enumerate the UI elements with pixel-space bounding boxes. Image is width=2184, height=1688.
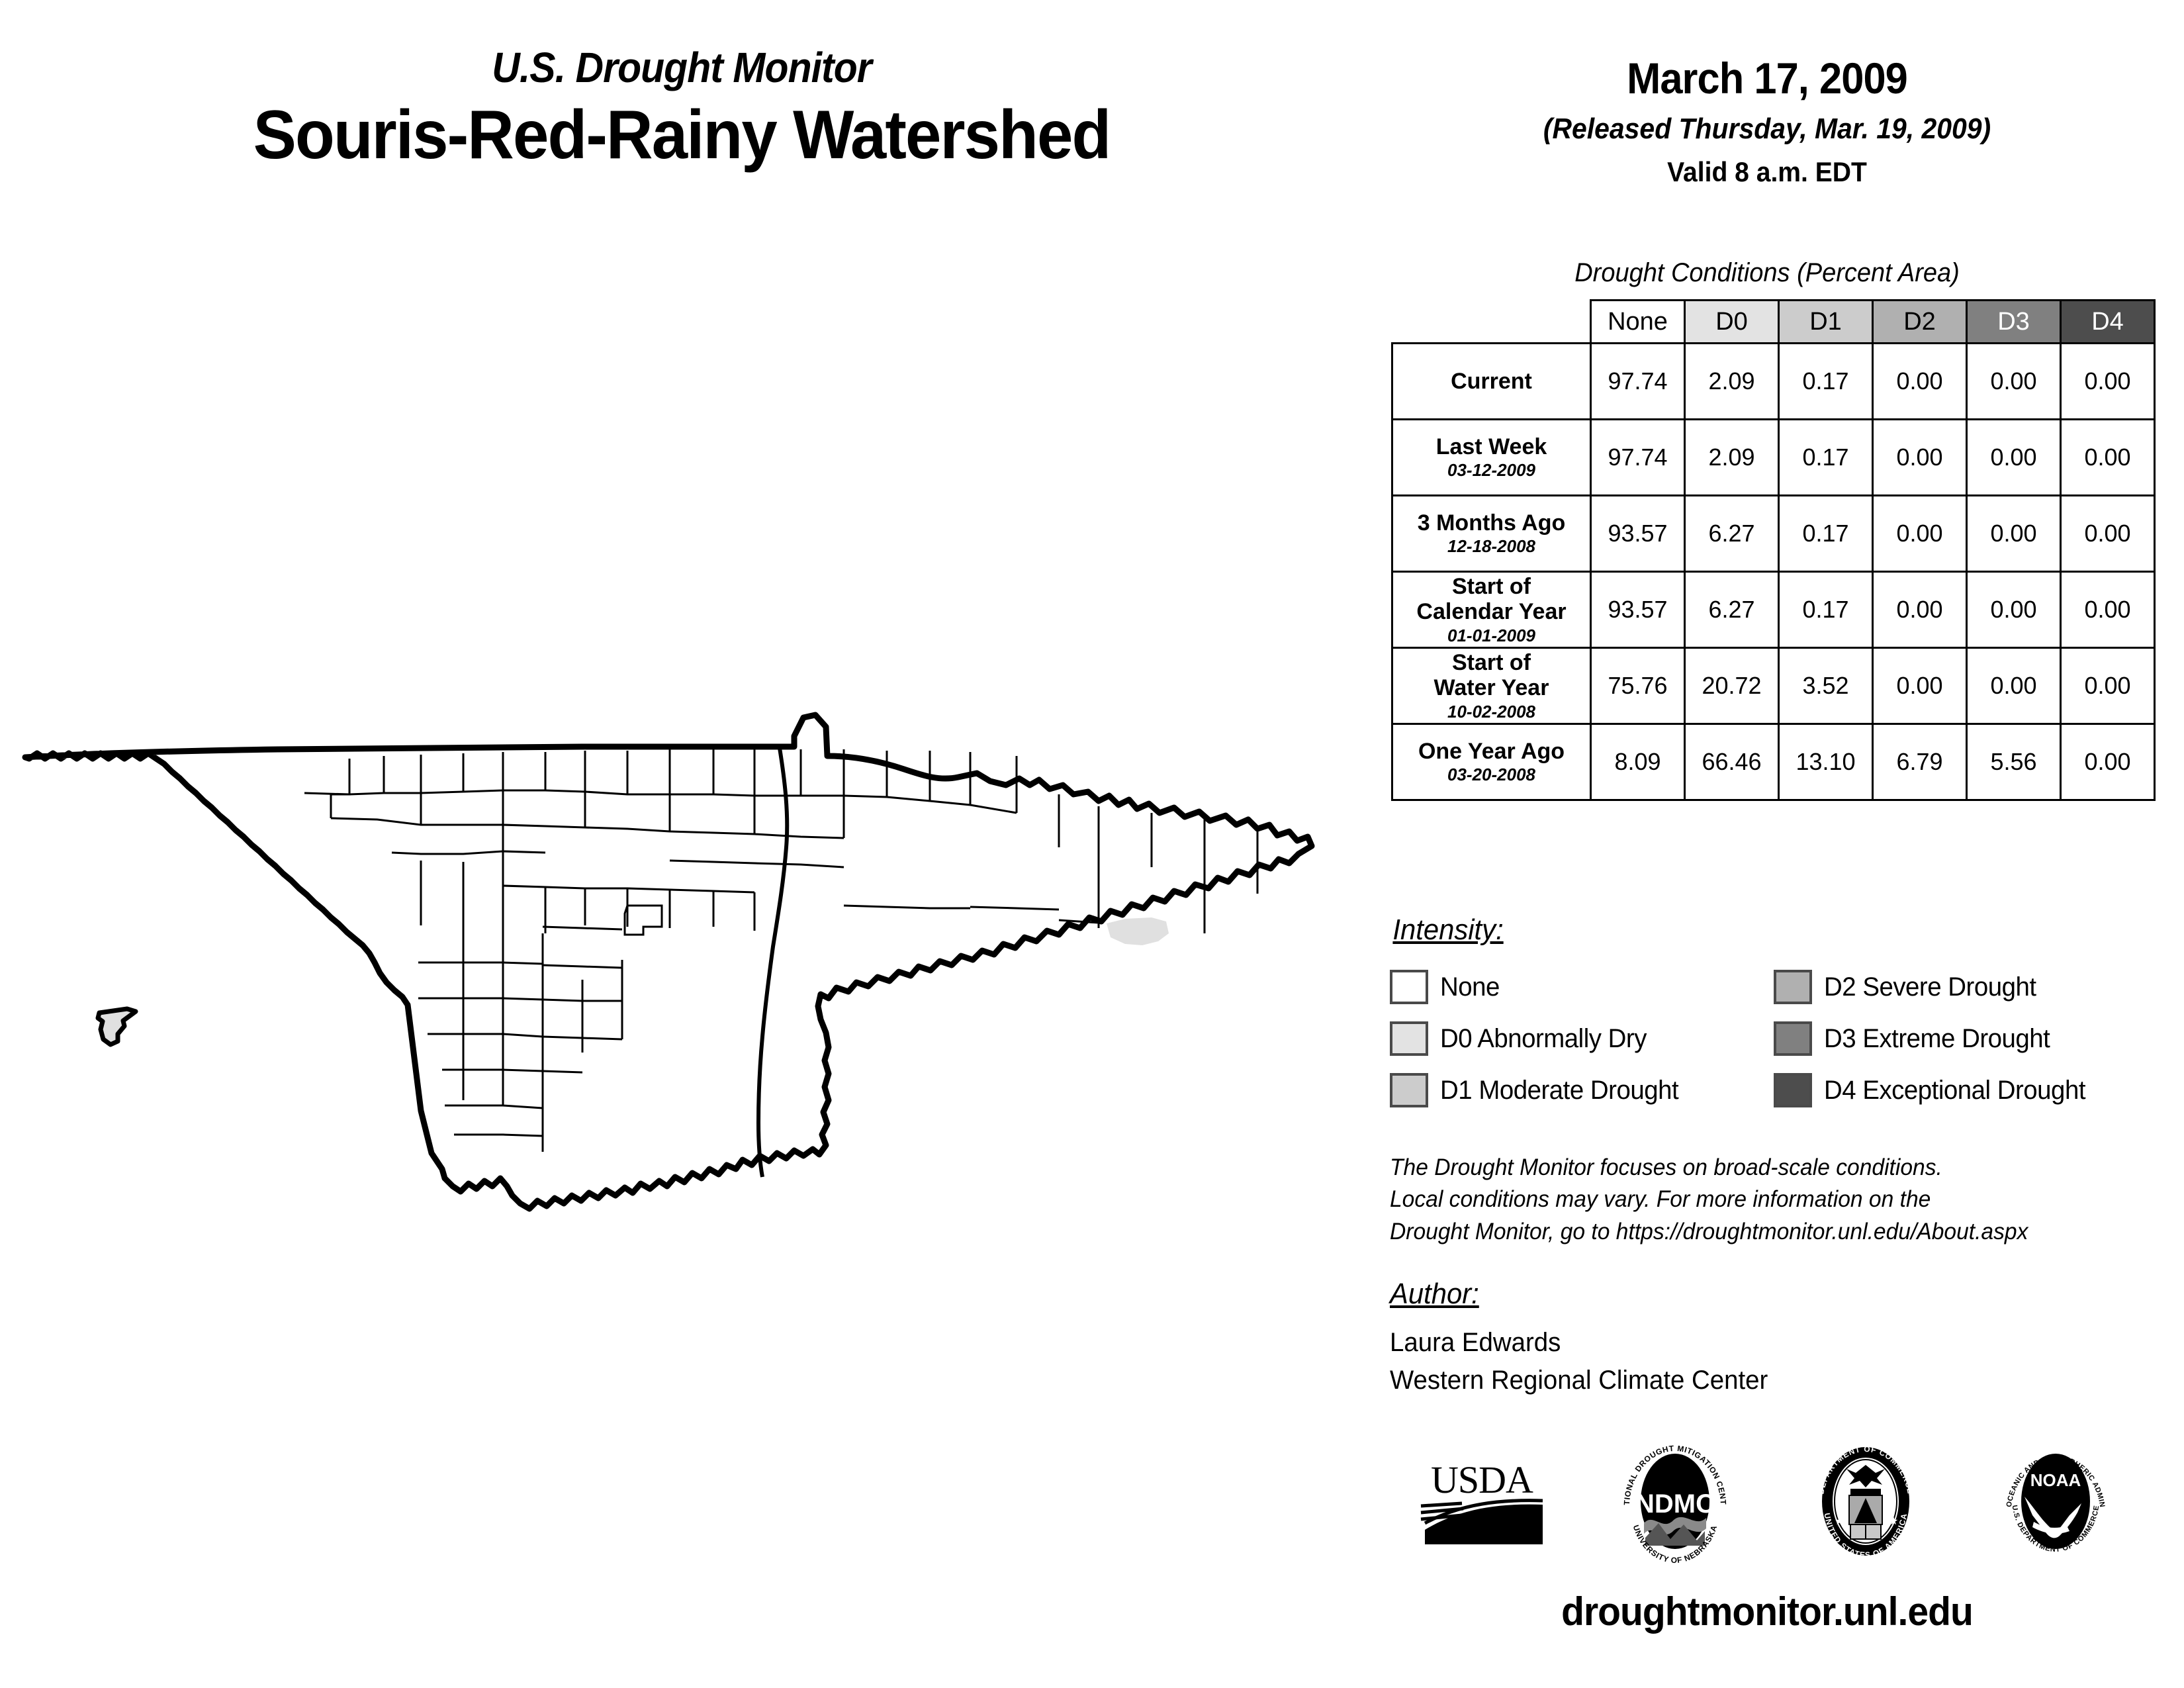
table-cell-d1: 0.17	[1779, 496, 1873, 572]
map-d0-region	[1107, 917, 1169, 945]
column-header-d4: D4	[2061, 301, 2155, 344]
table-cell-d2: 6.79	[1873, 724, 1967, 800]
legend-swatch	[1390, 970, 1428, 1004]
table-cell-d4: 0.00	[2061, 724, 2155, 800]
title-block: U.S. Drought Monitor Souris-Red-Rainy Wa…	[0, 46, 1363, 171]
date-block: March 17, 2009 (Released Thursday, Mar. …	[1370, 53, 2164, 188]
watershed-map	[0, 695, 1363, 1225]
table-corner-cell	[1392, 301, 1591, 344]
row-label-text: 3 Months Ago	[1418, 510, 1566, 536]
map-watershed-outline	[25, 715, 1312, 1209]
intensity-heading: Intensity:	[1392, 914, 1503, 947]
table-cell-d2: 0.00	[1873, 420, 1967, 496]
table-cell-d0: 66.46	[1685, 724, 1779, 800]
legend-label: D1 Moderate Drought	[1440, 1076, 1678, 1105]
legend-item: None	[1390, 970, 1774, 1004]
legend-swatch	[1774, 970, 1812, 1004]
usda-logo: USDA	[1416, 1452, 1548, 1554]
column-header-d2: D2	[1873, 301, 1967, 344]
legend-label: D2 Severe Drought	[1824, 972, 2036, 1002]
column-header-none: None	[1591, 301, 1685, 344]
svg-text:NOAA: NOAA	[2030, 1470, 2081, 1490]
table-cell-d1: 13.10	[1779, 724, 1873, 800]
table-cell-d4: 0.00	[2061, 344, 2155, 420]
table-cell-d3: 0.00	[1967, 648, 2061, 724]
table-cell-d1: 0.17	[1779, 420, 1873, 496]
release-date: (Released Thursday, Mar. 19, 2009)	[1398, 113, 2136, 146]
svg-text:★: ★	[1889, 1516, 1898, 1527]
author-block: Laura Edwards Western Regional Climate C…	[1390, 1324, 1768, 1399]
legend-swatch	[1390, 1073, 1428, 1107]
row-label: One Year Ago03-20-2008	[1392, 724, 1591, 800]
legend-swatch	[1774, 1073, 1812, 1107]
table-cell-d4: 0.00	[2061, 420, 2155, 496]
issue-date: March 17, 2009	[1398, 53, 2136, 103]
inset-d0-fill	[98, 1009, 136, 1045]
intensity-legend: NoneD2 Severe DroughtD0 Abnormally DryD3…	[1390, 970, 2158, 1107]
site-url: droughtmonitor.unl.edu	[1390, 1589, 2144, 1634]
map-inset-polygon	[98, 1009, 136, 1045]
valid-time: Valid 8 a.m. EDT	[1398, 156, 2136, 188]
table-cell-d1: 0.17	[1779, 344, 1873, 420]
table-cell-d3: 0.00	[1967, 496, 2061, 572]
row-label-text: Start ofWater Year	[1434, 650, 1549, 700]
legend-label: D3 Extreme Drought	[1824, 1024, 2050, 1054]
ndmc-logo: NDMC NATIONAL DROUGHT MITIGATION CENTER …	[1612, 1438, 1738, 1568]
author-heading: Author:	[1390, 1278, 1479, 1311]
program-title: U.S. Drought Monitor	[54, 46, 1308, 89]
table-cell-d2: 0.00	[1873, 344, 1967, 420]
table-row: Last Week03-12-200997.742.090.170.000.00…	[1392, 420, 2155, 496]
table-cell-d3: 0.00	[1967, 420, 2061, 496]
table-cell-none: 93.57	[1591, 572, 1685, 648]
row-label-date: 03-20-2008	[1393, 765, 1590, 784]
legend-item: D1 Moderate Drought	[1390, 1073, 1774, 1107]
row-label-date: 03-12-2009	[1393, 461, 1590, 480]
legend-label: D0 Abnormally Dry	[1440, 1024, 1647, 1054]
author-affiliation: Western Regional Climate Center	[1390, 1362, 1768, 1399]
column-header-d0: D0	[1685, 301, 1779, 344]
column-header-d1: D1	[1779, 301, 1873, 344]
row-label-date: 01-01-2009	[1393, 626, 1590, 645]
table-cell-d3: 5.56	[1967, 724, 2061, 800]
disclaimer: The Drought Monitor focuses on broad-sca…	[1390, 1152, 2140, 1248]
legend-item: D2 Severe Drought	[1774, 970, 2158, 1004]
table-cell-d1: 3.52	[1779, 648, 1873, 724]
row-label: Start ofWater Year10-02-2008	[1392, 648, 1591, 724]
table-cell-d0: 6.27	[1685, 496, 1779, 572]
table-row: Current97.742.090.170.000.000.00	[1392, 344, 2155, 420]
table-row: Start ofCalendar Year01-01-200993.576.27…	[1392, 572, 2155, 648]
row-label: Last Week03-12-2009	[1392, 420, 1591, 496]
row-label: 3 Months Ago12-18-2008	[1392, 496, 1591, 572]
noaa-logo: NOAA NATIONAL OCEANIC AND ATMOSPHERIC AD…	[1993, 1438, 2118, 1568]
legend-swatch	[1390, 1021, 1428, 1056]
legend-label: D4 Exceptional Drought	[1824, 1076, 2085, 1105]
svg-text:★: ★	[1835, 1516, 1844, 1527]
page-title: Souris-Red-Rainy Watershed	[41, 99, 1322, 171]
row-label: Start ofCalendar Year01-01-2009	[1392, 572, 1591, 648]
table-body: Current97.742.090.170.000.000.00Last Wee…	[1392, 344, 2155, 800]
disclaimer-line-3: Drought Monitor, go to https://droughtmo…	[1390, 1216, 2140, 1248]
table-cell-d2: 0.00	[1873, 496, 1967, 572]
table-cell-none: 75.76	[1591, 648, 1685, 724]
map-county-lines	[304, 749, 1257, 1152]
logo-row: USDA NDMC NATIONAL DROUGHT MITIGATION CE…	[1383, 1436, 2151, 1569]
table-cell-none: 97.74	[1591, 344, 1685, 420]
row-label-text: Current	[1451, 369, 1532, 394]
row-label-text: Start ofCalendar Year	[1416, 574, 1566, 624]
svg-text:NDMC: NDMC	[1635, 1489, 1715, 1519]
disclaimer-line-1: The Drought Monitor focuses on broad-sca…	[1390, 1152, 2140, 1184]
table-cell-d0: 20.72	[1685, 648, 1779, 724]
table-row: Start ofWater Year10-02-200875.7620.723.…	[1392, 648, 2155, 724]
table-cell-d4: 0.00	[2061, 648, 2155, 724]
table-cell-d4: 0.00	[2061, 572, 2155, 648]
author-name: Laura Edwards	[1390, 1324, 1768, 1362]
table-cell-d0: 2.09	[1685, 420, 1779, 496]
table-cell-d4: 0.00	[2061, 496, 2155, 572]
table-cell-d1: 0.17	[1779, 572, 1873, 648]
legend-swatch	[1774, 1021, 1812, 1056]
table-header-row: None D0 D1 D2 D3 D4	[1392, 301, 2155, 344]
table-cell-none: 8.09	[1591, 724, 1685, 800]
svg-text:USDA: USDA	[1431, 1458, 1533, 1501]
table-row: 3 Months Ago12-18-200893.576.270.170.000…	[1392, 496, 2155, 572]
table-cell-d0: 2.09	[1685, 344, 1779, 420]
table-cell-none: 97.74	[1591, 420, 1685, 496]
legend-item: D4 Exceptional Drought	[1774, 1073, 2158, 1107]
legend-item: D0 Abnormally Dry	[1390, 1021, 1774, 1056]
table-cell-d3: 0.00	[1967, 572, 2061, 648]
doc-logo: DEPARTMENT OF COMMERCE UNITED STATES OF …	[1803, 1438, 1929, 1568]
table-cell-d3: 0.00	[1967, 344, 2061, 420]
table-cell-d2: 0.00	[1873, 648, 1967, 724]
map-state-line	[758, 748, 787, 1177]
legend-item: D3 Extreme Drought	[1774, 1021, 2158, 1056]
row-label: Current	[1392, 344, 1591, 420]
row-label-date: 12-18-2008	[1393, 537, 1590, 556]
table-cell-none: 93.57	[1591, 496, 1685, 572]
table-cell-d2: 0.00	[1873, 572, 1967, 648]
row-label-text: Last Week	[1436, 434, 1547, 459]
legend-label: None	[1440, 972, 1500, 1002]
column-header-d3: D3	[1967, 301, 2061, 344]
table-caption: Drought Conditions (Percent Area)	[1390, 258, 2144, 288]
disclaimer-line-2: Local conditions may vary. For more info…	[1390, 1184, 2140, 1215]
row-label-date: 10-02-2008	[1393, 702, 1590, 722]
table-cell-d0: 6.27	[1685, 572, 1779, 648]
drought-conditions-table: None D0 D1 D2 D3 D4 Current97.742.090.17…	[1391, 299, 2156, 801]
table-row: One Year Ago03-20-20088.0966.4613.106.79…	[1392, 724, 2155, 800]
row-label-text: One Year Ago	[1418, 739, 1565, 764]
